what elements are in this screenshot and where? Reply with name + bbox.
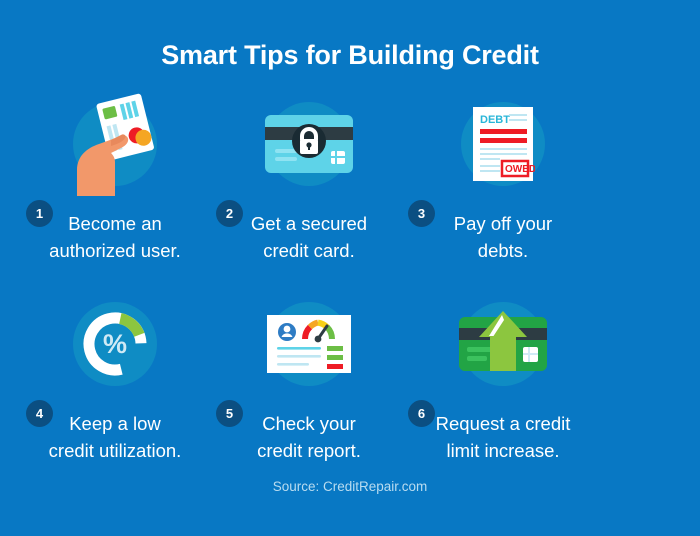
utilization-donut-icon: %: [77, 306, 153, 382]
tip-caption-line2: limit increase.: [446, 440, 559, 461]
tip-6-icon-area: [406, 288, 600, 400]
tip-caption-line1: Pay off your: [454, 213, 552, 234]
tip-1-label-block: 1 Become an authorized user.: [18, 200, 212, 264]
tip-item-3: DEBT OWED: [406, 88, 600, 264]
secured-credit-card-icon: [263, 111, 355, 177]
debt-document-icon: DEBT OWED: [471, 105, 535, 183]
tip-caption: Request a credit limit increase.: [406, 410, 600, 464]
tip-item-1: 1 Become an authorized user.: [18, 88, 212, 264]
tip-1-icon-area: [18, 88, 212, 200]
source-attribution: Source: CreditRepair.com: [0, 479, 700, 494]
credit-limit-increase-icon: [457, 309, 549, 379]
tip-6-label-block: 6 Request a credit limit increase.: [406, 400, 600, 464]
tip-item-4: % 4 Keep a low credit utilization.: [18, 288, 212, 464]
tips-row-1: 1 Become an authorized user.: [0, 88, 700, 264]
tip-5-label-block: 5 Check your credit report.: [212, 400, 406, 464]
tip-item-5: 5 Check your credit report.: [212, 288, 406, 464]
tip-caption-line1: Keep a low: [69, 413, 161, 434]
page-title: Smart Tips for Building Credit: [0, 40, 700, 71]
tip-caption-line1: Become an: [68, 213, 162, 234]
tip-number-badge: 6: [408, 400, 435, 427]
tips-grid: 1 Become an authorized user.: [0, 88, 700, 464]
hand-holding-card-icon: [67, 92, 163, 196]
tip-2-icon-area: [212, 88, 406, 200]
tip-item-6: 6 Request a credit limit increase.: [406, 288, 600, 464]
tip-caption-line2: credit report.: [257, 440, 361, 461]
tip-number-badge: 3: [408, 200, 435, 227]
tip-caption: Pay off your debts.: [406, 210, 600, 264]
tip-caption-line1: Get a secured: [251, 213, 367, 234]
tip-number-badge: 1: [26, 200, 53, 227]
tip-number-badge: 5: [216, 400, 243, 427]
tip-item-2: 2 Get a secured credit card.: [212, 88, 406, 264]
tip-number-badge: 2: [216, 200, 243, 227]
tips-row-2: % 4 Keep a low credit utilization.: [0, 288, 700, 464]
tip-caption-line1: Request a credit: [436, 413, 571, 434]
tip-3-icon-area: DEBT OWED: [406, 88, 600, 200]
credit-report-icon: [265, 313, 353, 375]
tip-2-label-block: 2 Get a secured credit card.: [212, 200, 406, 264]
tip-3-label-block: 3 Pay off your debts.: [406, 200, 600, 264]
tip-caption-line1: Check your: [262, 413, 356, 434]
tip-4-icon-area: %: [18, 288, 212, 400]
percent-symbol: %: [103, 329, 127, 359]
infographic-root: Smart Tips for Building Credit: [0, 0, 700, 536]
tip-caption-line2: authorized user.: [49, 240, 181, 261]
tip-caption-line2: debts.: [478, 240, 528, 261]
tip-5-icon-area: [212, 288, 406, 400]
tip-number-badge: 4: [26, 400, 53, 427]
tip-caption-line2: credit card.: [263, 240, 355, 261]
tip-caption-line2: credit utilization.: [49, 440, 182, 461]
owed-label: OWED: [505, 164, 535, 175]
debt-label: DEBT: [480, 114, 510, 126]
tip-4-label-block: 4 Keep a low credit utilization.: [18, 400, 212, 464]
